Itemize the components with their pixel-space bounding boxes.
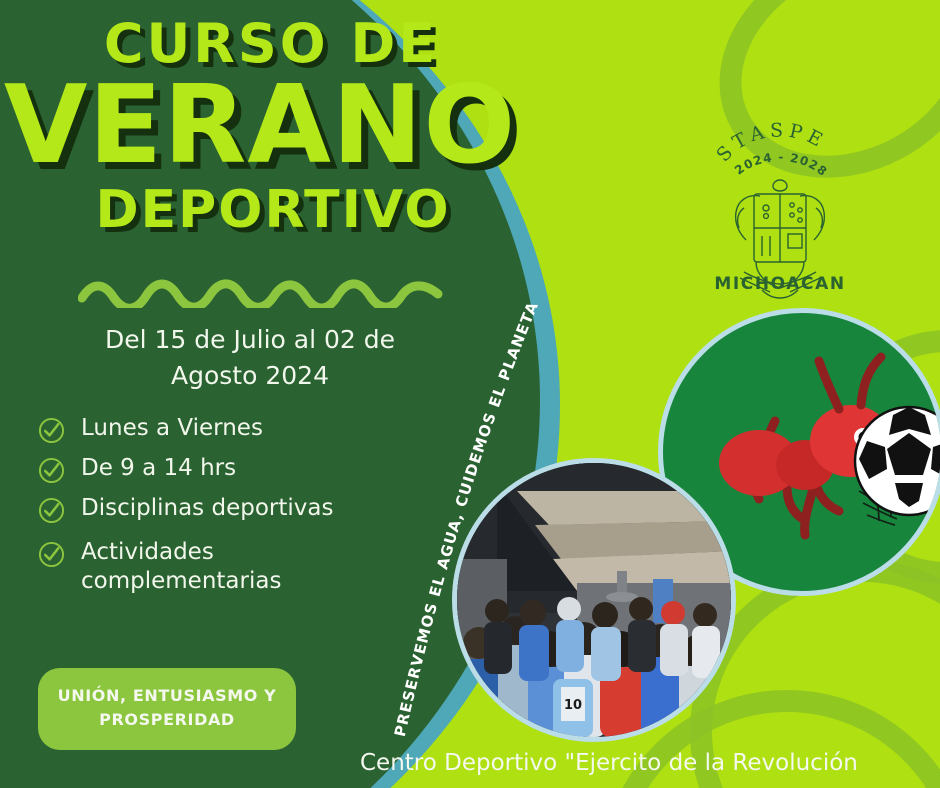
emblem-state-label: MICHOACAN bbox=[700, 274, 860, 294]
slogan-line-1: UNIÓN, ENTUSIASMO Y bbox=[52, 684, 282, 708]
headline-line-verano: VERANO bbox=[0, 73, 520, 179]
list-item-label: Disciplinas deportivas bbox=[81, 494, 333, 523]
poster-root: PRESERVEMOS EL AGUA, CUIDEMOS EL PLANETA… bbox=[0, 0, 940, 788]
check-circle-icon bbox=[38, 497, 65, 524]
date-block: Del 15 de Julio al 02 de Agosto 2024 bbox=[52, 322, 448, 395]
list-item-label: De 9 a 14 hrs bbox=[81, 454, 236, 483]
crowd-photo-illustration: 10 bbox=[457, 463, 731, 737]
venue-caption: Centro Deportivo "Ejercito de la Revoluc… bbox=[360, 750, 920, 776]
slogan-badge: UNIÓN, ENTUSIASMO Y PROSPERIDAD bbox=[38, 668, 296, 750]
check-circle-icon bbox=[38, 417, 65, 444]
list-item-label: Actividades complementarias bbox=[81, 538, 341, 597]
feature-list: Lunes a Viernes De 9 a 14 hrs Disciplina… bbox=[38, 414, 398, 607]
emblem-years-text: 2024 - 2028 bbox=[732, 150, 830, 179]
date-line-2: Agosto 2024 bbox=[52, 358, 448, 394]
event-photo: 10 bbox=[452, 458, 736, 742]
date-line-1: Del 15 de Julio al 02 de bbox=[52, 322, 448, 358]
list-item: De 9 a 14 hrs bbox=[38, 454, 398, 484]
list-item: Lunes a Viernes bbox=[38, 414, 398, 444]
ant-antennae bbox=[819, 357, 881, 409]
headline-line-deportivo: DEPORTIVO bbox=[26, 183, 520, 238]
list-item-label: Lunes a Viernes bbox=[81, 414, 263, 443]
check-circle-icon bbox=[38, 541, 65, 568]
squiggle-divider-icon bbox=[78, 278, 448, 308]
check-circle-icon bbox=[38, 457, 65, 484]
svg-text:10: 10 bbox=[564, 698, 582, 713]
headline-block: CURSO DE VERANO DEPORTIVO bbox=[0, 16, 520, 238]
list-item: Actividades complementarias bbox=[38, 538, 398, 597]
list-item: Disciplinas deportivas bbox=[38, 494, 398, 524]
slogan-line-2: PROSPERIDAD bbox=[52, 708, 282, 732]
svg-text:2024 - 2028: 2024 - 2028 bbox=[732, 150, 830, 179]
